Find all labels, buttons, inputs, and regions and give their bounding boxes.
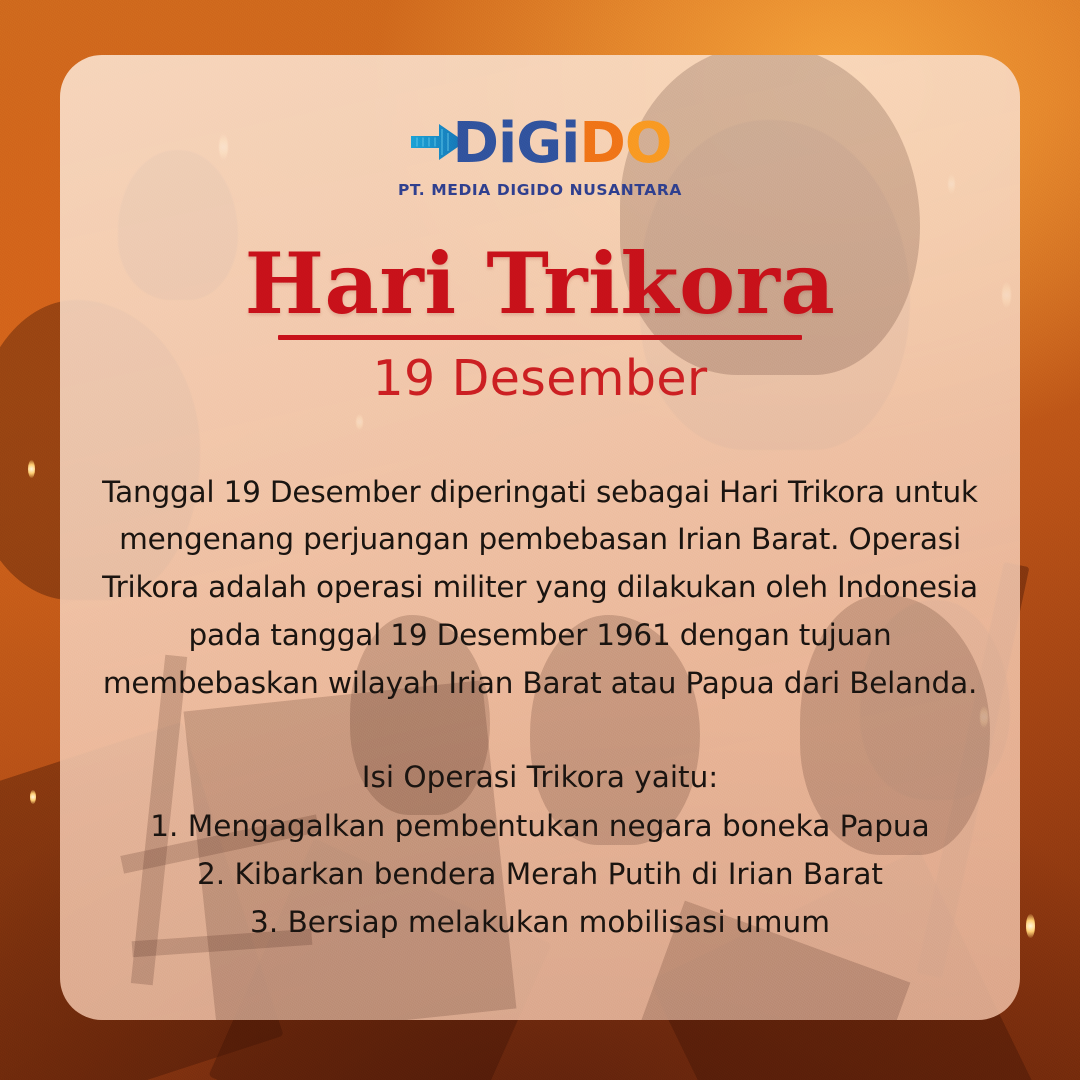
logo-text-d: D: [579, 116, 624, 172]
page-subtitle: 19 Desember: [372, 350, 707, 407]
content-card: Di Gi D O PT. MEDIA DIGIDO NUSANTARA Har…: [60, 55, 1020, 1020]
logo-text-o: O: [625, 116, 672, 172]
operation-points-list: 1. Mengagalkan pembentukan negara boneka…: [150, 803, 929, 946]
logo-text-di: Di: [453, 116, 517, 172]
ember-spark: [1026, 914, 1035, 938]
list-item: 3. Bersiap melakukan mobilisasi umum: [150, 899, 929, 947]
list-item: 2. Kibarkan bendera Merah Putih di Irian…: [150, 851, 929, 899]
page-title: Hari Trikora: [245, 241, 836, 327]
brand-logo: Di Gi D O PT. MEDIA DIGIDO NUSANTARA: [398, 113, 682, 199]
ember-spark: [30, 790, 36, 804]
logo-tagline: PT. MEDIA DIGIDO NUSANTARA: [398, 181, 682, 199]
list-heading: Isi Operasi Trikora yaitu:: [362, 754, 719, 802]
title-block: Hari Trikora 19 Desember: [245, 241, 836, 407]
ember-spark: [28, 460, 35, 478]
body-paragraph: Tanggal 19 Desember diperingati sebagai …: [94, 469, 986, 708]
logo-text-gi: Gi: [516, 116, 579, 172]
list-item: 1. Mengagalkan pembentukan negara boneka…: [150, 803, 929, 851]
poster-canvas: Di Gi D O PT. MEDIA DIGIDO NUSANTARA Har…: [0, 0, 1080, 1080]
logo-wordmark: Di Gi D O: [409, 113, 672, 175]
title-underline: [278, 335, 802, 340]
